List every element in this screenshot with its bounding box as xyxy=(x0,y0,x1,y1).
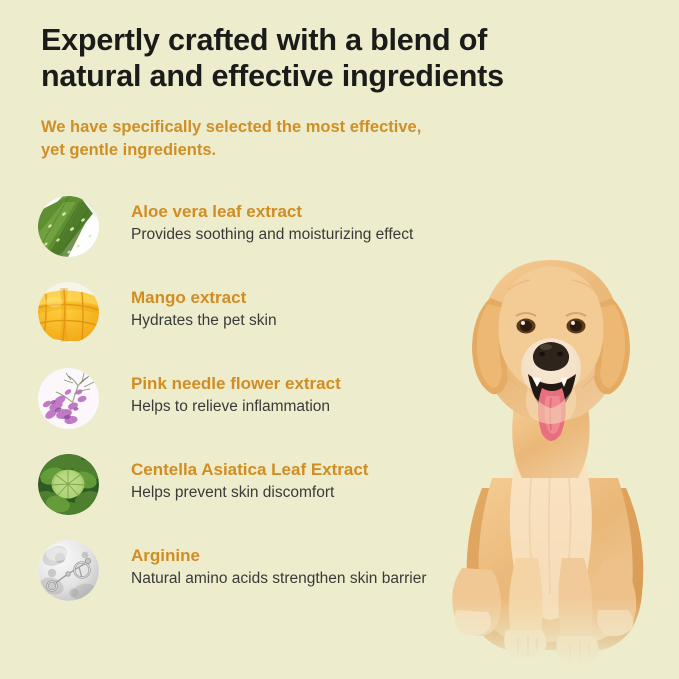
centella-asiatica-leaf-photo-icon xyxy=(38,454,99,515)
ingredient-text: Pink needle flower extract Helps to reli… xyxy=(131,373,461,417)
mango-fruit-photo-icon xyxy=(38,282,99,343)
ingredient-description: Natural amino acids strengthen skin barr… xyxy=(131,568,461,589)
page-title-line-2: natural and effective ingredients xyxy=(41,58,641,94)
ingredients-infographic: Expertly crafted with a blend of natural… xyxy=(0,0,679,679)
ingredient-description: Helps prevent skin discomfort xyxy=(131,482,461,503)
list-item: Centella Asiatica Leaf Extract Helps pre… xyxy=(38,454,458,540)
ingredient-description: Hydrates the pet skin xyxy=(131,310,461,331)
ingredient-name: Mango extract xyxy=(131,287,461,308)
list-item: Arginine Natural amino acids strengthen … xyxy=(38,540,458,626)
page-title: Expertly crafted with a blend of natural… xyxy=(41,22,641,94)
aloe-vera-leaf-photo-icon xyxy=(38,196,99,257)
ingredient-description: Provides soothing and moisturizing effec… xyxy=(131,224,461,245)
ingredient-name: Centella Asiatica Leaf Extract xyxy=(131,459,461,480)
ingredient-name: Pink needle flower extract xyxy=(131,373,461,394)
page-subtitle-line-2: yet gentle ingredients. xyxy=(41,139,561,162)
ingredient-text: Centella Asiatica Leaf Extract Helps pre… xyxy=(131,459,461,503)
ingredient-text: Aloe vera leaf extract Provides soothing… xyxy=(131,201,461,245)
list-item: Pink needle flower extract Helps to reli… xyxy=(38,368,458,454)
ingredient-list: Aloe vera leaf extract Provides soothing… xyxy=(38,196,458,626)
ingredient-text: Mango extract Hydrates the pet skin xyxy=(131,287,461,331)
ingredient-description: Helps to relieve inflammation xyxy=(131,396,461,417)
page-subtitle: We have specifically selected the most e… xyxy=(41,116,561,162)
page-subtitle-line-1: We have specifically selected the most e… xyxy=(41,118,421,136)
ingredient-name: Aloe vera leaf extract xyxy=(131,201,461,222)
golden-retriever-dog-photo xyxy=(422,238,679,668)
pink-needle-flower-photo-icon xyxy=(38,368,99,429)
arginine-molecule-photo-icon xyxy=(38,540,99,601)
list-item: Mango extract Hydrates the pet skin xyxy=(38,282,458,368)
page-title-line-1: Expertly crafted with a blend of xyxy=(41,23,487,57)
list-item: Aloe vera leaf extract Provides soothing… xyxy=(38,196,458,282)
ingredient-name: Arginine xyxy=(131,545,461,566)
ingredient-text: Arginine Natural amino acids strengthen … xyxy=(131,545,461,589)
